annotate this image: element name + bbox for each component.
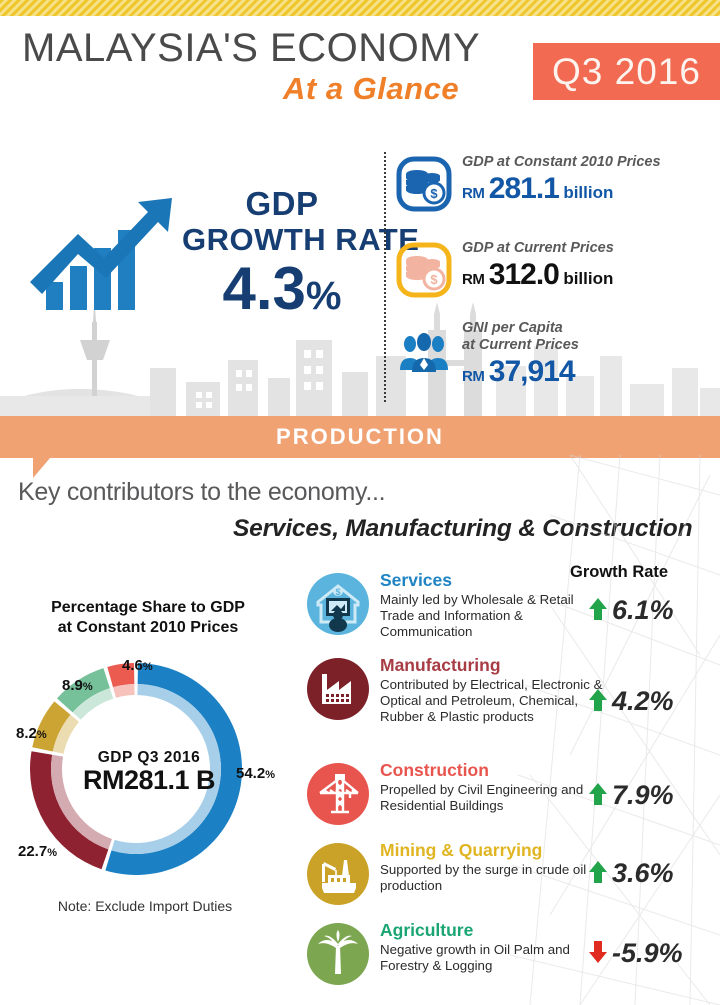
growth-arrow-chart-icon bbox=[20, 186, 180, 316]
stat-number: 37,914 bbox=[489, 355, 575, 388]
page-title: MALAYSIA'S ECONOMY bbox=[22, 26, 480, 71]
stat-caption-line2: at Current Prices bbox=[462, 337, 579, 354]
sector-description: Negative growth in Oil Palm and Forestry… bbox=[380, 942, 610, 974]
stat-caption: GDP at Constant 2010 Prices bbox=[462, 154, 661, 171]
services-shop-icon: $ bbox=[306, 572, 370, 636]
factory-icon bbox=[306, 657, 370, 721]
donut-label-services: 54.2% bbox=[236, 765, 275, 782]
arrow-up-icon bbox=[588, 860, 608, 884]
stat-value: RM 281.1 billion bbox=[462, 172, 661, 206]
sector-name: Manufacturing bbox=[380, 655, 610, 676]
donut-label-agriculture: 8.9% bbox=[62, 677, 93, 694]
stat-text: GDP at Current Prices RM 312.0 billion bbox=[462, 240, 614, 292]
donut-label-value: 22.7 bbox=[18, 843, 47, 860]
donut-chart-title: Percentage Share to GDP at Constant 2010… bbox=[8, 598, 288, 638]
growth-rate-construction: 7.9% bbox=[588, 780, 708, 811]
donut-chart: GDP Q3 2016 RM281.1 B 4.6% 8.9% 8.2% 22.… bbox=[14, 645, 284, 895]
sector-description: Mainly led by Wholesale & Retail Trade a… bbox=[380, 592, 610, 641]
currency-label: RM bbox=[462, 271, 484, 288]
arrow-up-icon bbox=[588, 782, 608, 806]
donut-label-value: 4.6 bbox=[122, 657, 143, 674]
growth-rate-value: 6.1% bbox=[612, 595, 674, 625]
quarter-badge: Q3 2016 bbox=[533, 43, 720, 100]
growth-rate-value: 4.2% bbox=[612, 686, 674, 716]
gdp-label-line1: GDP bbox=[182, 186, 382, 222]
arrow-down-icon bbox=[588, 940, 608, 964]
top-stripe bbox=[0, 0, 720, 16]
production-banner-label: PRODUCTION bbox=[0, 416, 720, 458]
svg-text:$: $ bbox=[335, 587, 340, 597]
growth-rate-value: -5.9% bbox=[612, 938, 683, 968]
donut-title-line2: at Constant 2010 Prices bbox=[58, 619, 239, 636]
currency-label: RM bbox=[462, 185, 484, 202]
donut-label-value: 8.9 bbox=[62, 677, 83, 694]
growth-rate-services: 6.1% bbox=[588, 595, 708, 626]
donut-title-line1: Percentage Share to GDP bbox=[51, 599, 245, 616]
growth-rate-value: 3.6% bbox=[612, 858, 674, 888]
sector-name: Services bbox=[380, 570, 610, 591]
gdp-hero-section: GDP GROWTH RATE 4.3% $ GDP at bbox=[0, 126, 720, 416]
stat-number: 312.0 bbox=[489, 258, 559, 291]
donut-label-value: 54.2 bbox=[236, 765, 265, 782]
stat-value: RM 37,914 bbox=[462, 355, 579, 389]
vertical-dotted-divider bbox=[384, 152, 386, 402]
svg-text:$: $ bbox=[430, 186, 438, 201]
gdp-growth-label: GDP GROWTH RATE bbox=[182, 186, 382, 258]
donut-label-value: 8.2 bbox=[16, 725, 37, 742]
sector-name: Construction bbox=[380, 760, 610, 781]
stat-unit: billion bbox=[563, 183, 613, 202]
donut-label-mining: 8.2% bbox=[16, 725, 47, 742]
infographic-page: MALAYSIA'S ECONOMY At a Glance Q3 2016 bbox=[0, 0, 720, 1005]
sector-body: Agriculture Negative growth in Oil Palm … bbox=[380, 920, 610, 974]
stat-caption-line1: GNI per Capita bbox=[462, 320, 579, 337]
growth-rate-mining: 3.6% bbox=[588, 858, 708, 889]
oil-rig-icon bbox=[306, 842, 370, 906]
sector-body: Manufacturing Contributed by Electrical,… bbox=[380, 655, 610, 726]
sector-description: Supported by the surge in crude oil prod… bbox=[380, 862, 610, 894]
page-subtitle: At a Glance bbox=[283, 71, 459, 107]
donut-label-construction: 4.6% bbox=[122, 657, 153, 674]
stat-unit: billion bbox=[563, 269, 613, 288]
production-banner: PRODUCTION bbox=[0, 416, 720, 458]
growth-rate-value: 7.9% bbox=[612, 780, 674, 810]
palm-tree-icon bbox=[306, 922, 370, 986]
donut-label-manufacturing: 22.7% bbox=[18, 843, 57, 860]
sector-description: Propelled by Civil Engineering and Resid… bbox=[380, 782, 610, 814]
gdp-label-line2: GROWTH RATE bbox=[182, 222, 382, 258]
stat-number: 281.1 bbox=[489, 172, 559, 205]
sector-name: Agriculture bbox=[380, 920, 610, 941]
growth-rate-agriculture: -5.9% bbox=[588, 938, 708, 969]
coins-stack-icon: $ bbox=[396, 242, 452, 298]
gdp-rate-percent-sign: % bbox=[306, 274, 342, 318]
stat-text: GNI per Capita at Current Prices RM 37,9… bbox=[462, 320, 579, 389]
gdp-rate-number: 4.3 bbox=[223, 255, 306, 322]
growth-rate-manufacturing: 4.2% bbox=[588, 686, 708, 717]
arrow-up-icon bbox=[588, 688, 608, 712]
banner-notch bbox=[33, 458, 67, 478]
sector-description: Contributed by Electrical, Electronic & … bbox=[380, 677, 610, 726]
sector-body: Construction Propelled by Civil Engineer… bbox=[380, 760, 610, 814]
stat-value: RM 312.0 billion bbox=[462, 258, 614, 292]
donut-chart-note: Note: Exclude Import Duties bbox=[10, 898, 280, 914]
people-group-icon bbox=[396, 322, 452, 378]
header: MALAYSIA'S ECONOMY At a Glance Q3 2016 bbox=[0, 16, 720, 126]
coins-stack-icon: $ bbox=[396, 156, 452, 212]
sector-body: Mining & Quarrying Supported by the surg… bbox=[380, 840, 610, 894]
arrow-up-icon bbox=[588, 597, 608, 621]
sector-body: Services Mainly led by Wholesale & Retai… bbox=[380, 570, 610, 641]
stat-caption: GDP at Current Prices bbox=[462, 240, 614, 257]
gdp-growth-rate-value: 4.3% bbox=[182, 258, 382, 327]
svg-text:$: $ bbox=[430, 272, 438, 287]
crane-icon bbox=[306, 762, 370, 826]
key-contributors-line1: Key contributors to the economy... bbox=[18, 478, 385, 507]
stat-text: GDP at Constant 2010 Prices RM 281.1 bil… bbox=[462, 154, 661, 206]
currency-label: RM bbox=[462, 368, 484, 385]
sector-name: Mining & Quarrying bbox=[380, 840, 610, 861]
